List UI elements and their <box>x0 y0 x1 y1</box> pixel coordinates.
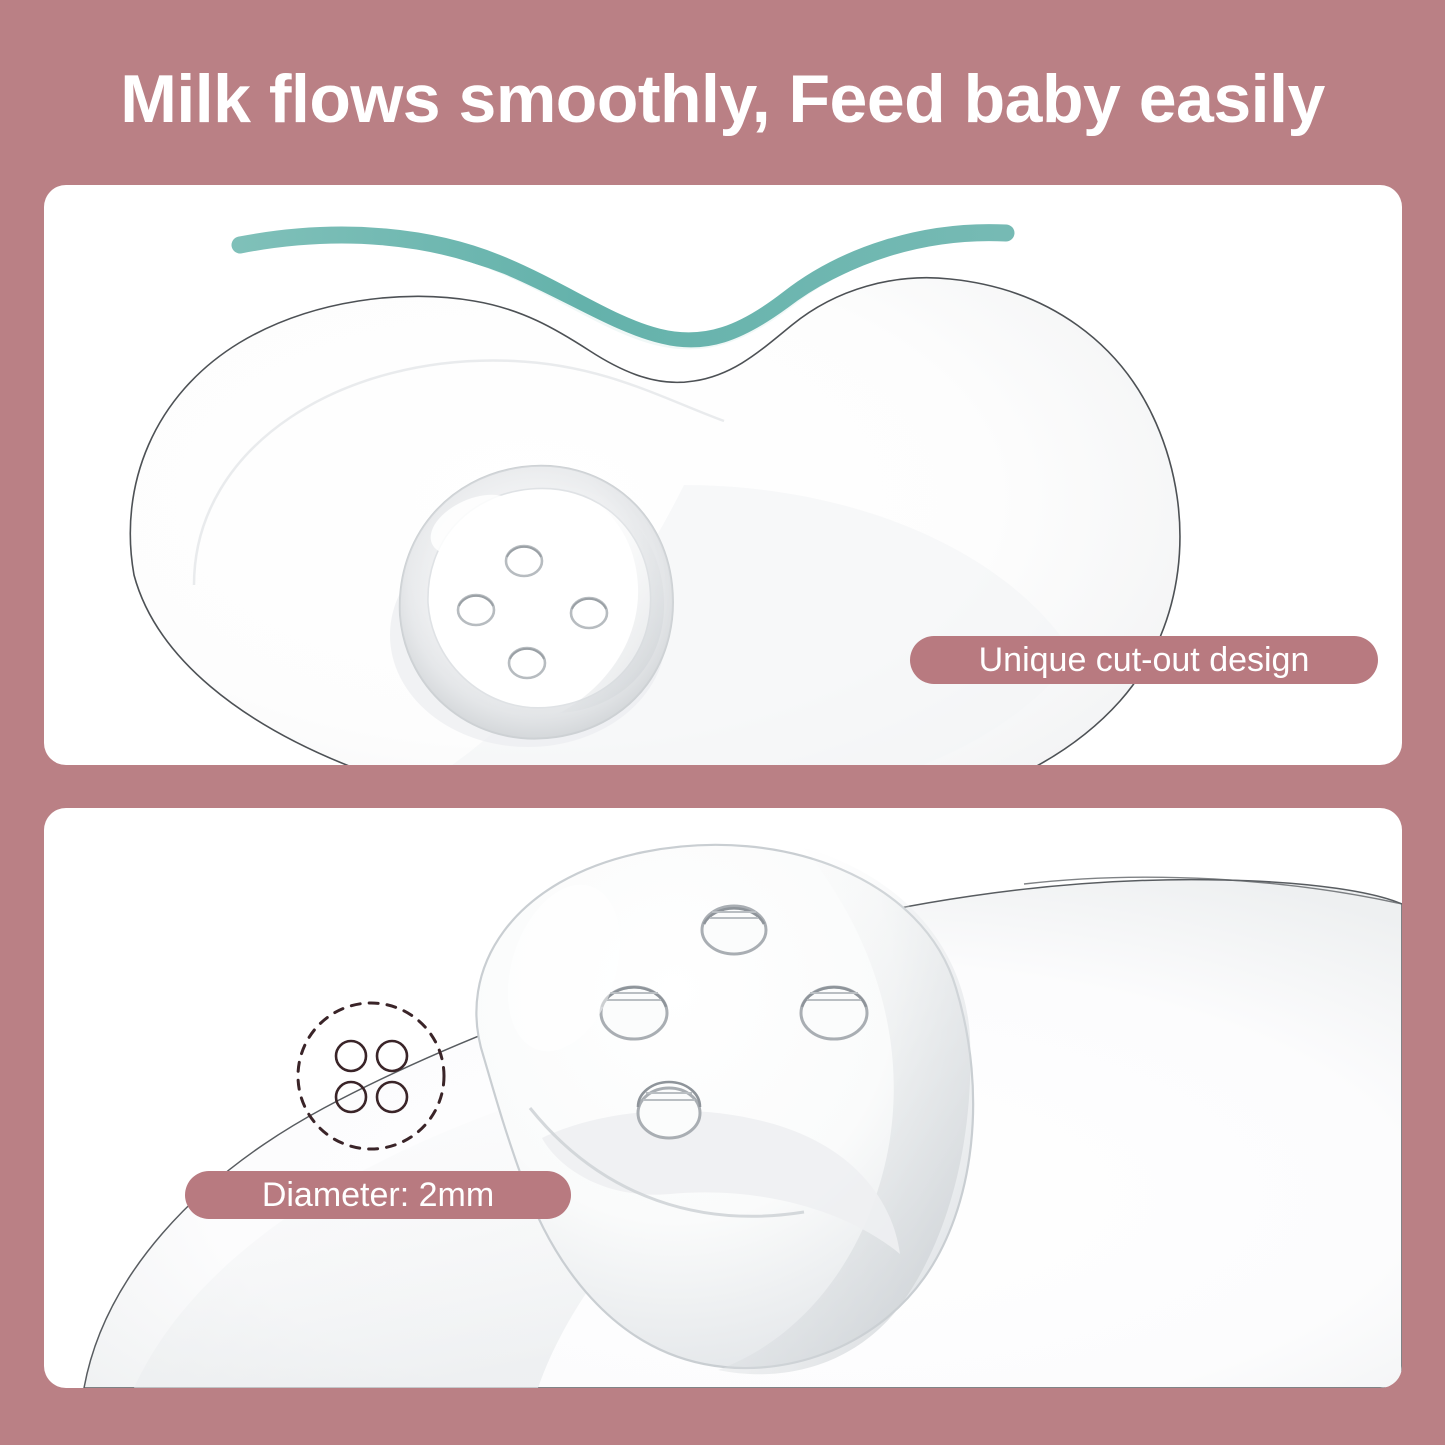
badge-label: Diameter: 2mm <box>262 1178 494 1212</box>
teat-tunnel-line <box>530 1108 804 1216</box>
teat-base-shadow <box>390 523 666 747</box>
teat-shading <box>718 848 970 1374</box>
teat-body <box>476 845 973 1368</box>
four-hole-diagram <box>293 998 449 1154</box>
hole-diameter-card <box>44 808 1402 1388</box>
teat-rim-gloss <box>400 466 673 739</box>
shield-body <box>130 278 1180 765</box>
teat-tunnel-crescent <box>542 1111 900 1254</box>
hole-icon <box>377 1041 407 1071</box>
teat-gloss-highlight <box>488 870 640 1066</box>
shield-inner-contour <box>194 361 724 585</box>
teat-holes <box>458 546 607 678</box>
shield-skirt <box>84 880 1402 1388</box>
badge-label: Unique cut-out design <box>979 643 1310 677</box>
teat-highlight <box>421 483 526 568</box>
product-infographic: Milk flows smoothly, Feed baby easily <box>0 0 1445 1445</box>
teat-holes-closeup <box>601 906 867 1138</box>
teat-outer-wall <box>400 466 673 739</box>
badge-unique-cut-out-design: Unique cut-out design <box>910 636 1378 684</box>
teat-crescent-shade <box>560 485 664 713</box>
hole-icon <box>377 1082 407 1112</box>
cut-out-design-card: Unique cut-out design <box>44 185 1402 765</box>
teal-cutout-accent <box>240 233 1006 341</box>
shield-edge-highlight <box>244 249 1002 353</box>
nipple-shield-teat-closeup-image <box>44 808 1402 1388</box>
skirt-top-edge <box>1024 877 1402 904</box>
badge-diameter: Diameter: 2mm <box>185 1171 571 1219</box>
hole-icon <box>336 1041 366 1071</box>
hole-icon <box>336 1082 366 1112</box>
page-title: Milk flows smoothly, Feed baby easily <box>0 58 1445 140</box>
shield-shading <box>444 485 1074 765</box>
teat-inner-dome <box>428 488 651 707</box>
dashed-circle-icon <box>298 1003 444 1149</box>
